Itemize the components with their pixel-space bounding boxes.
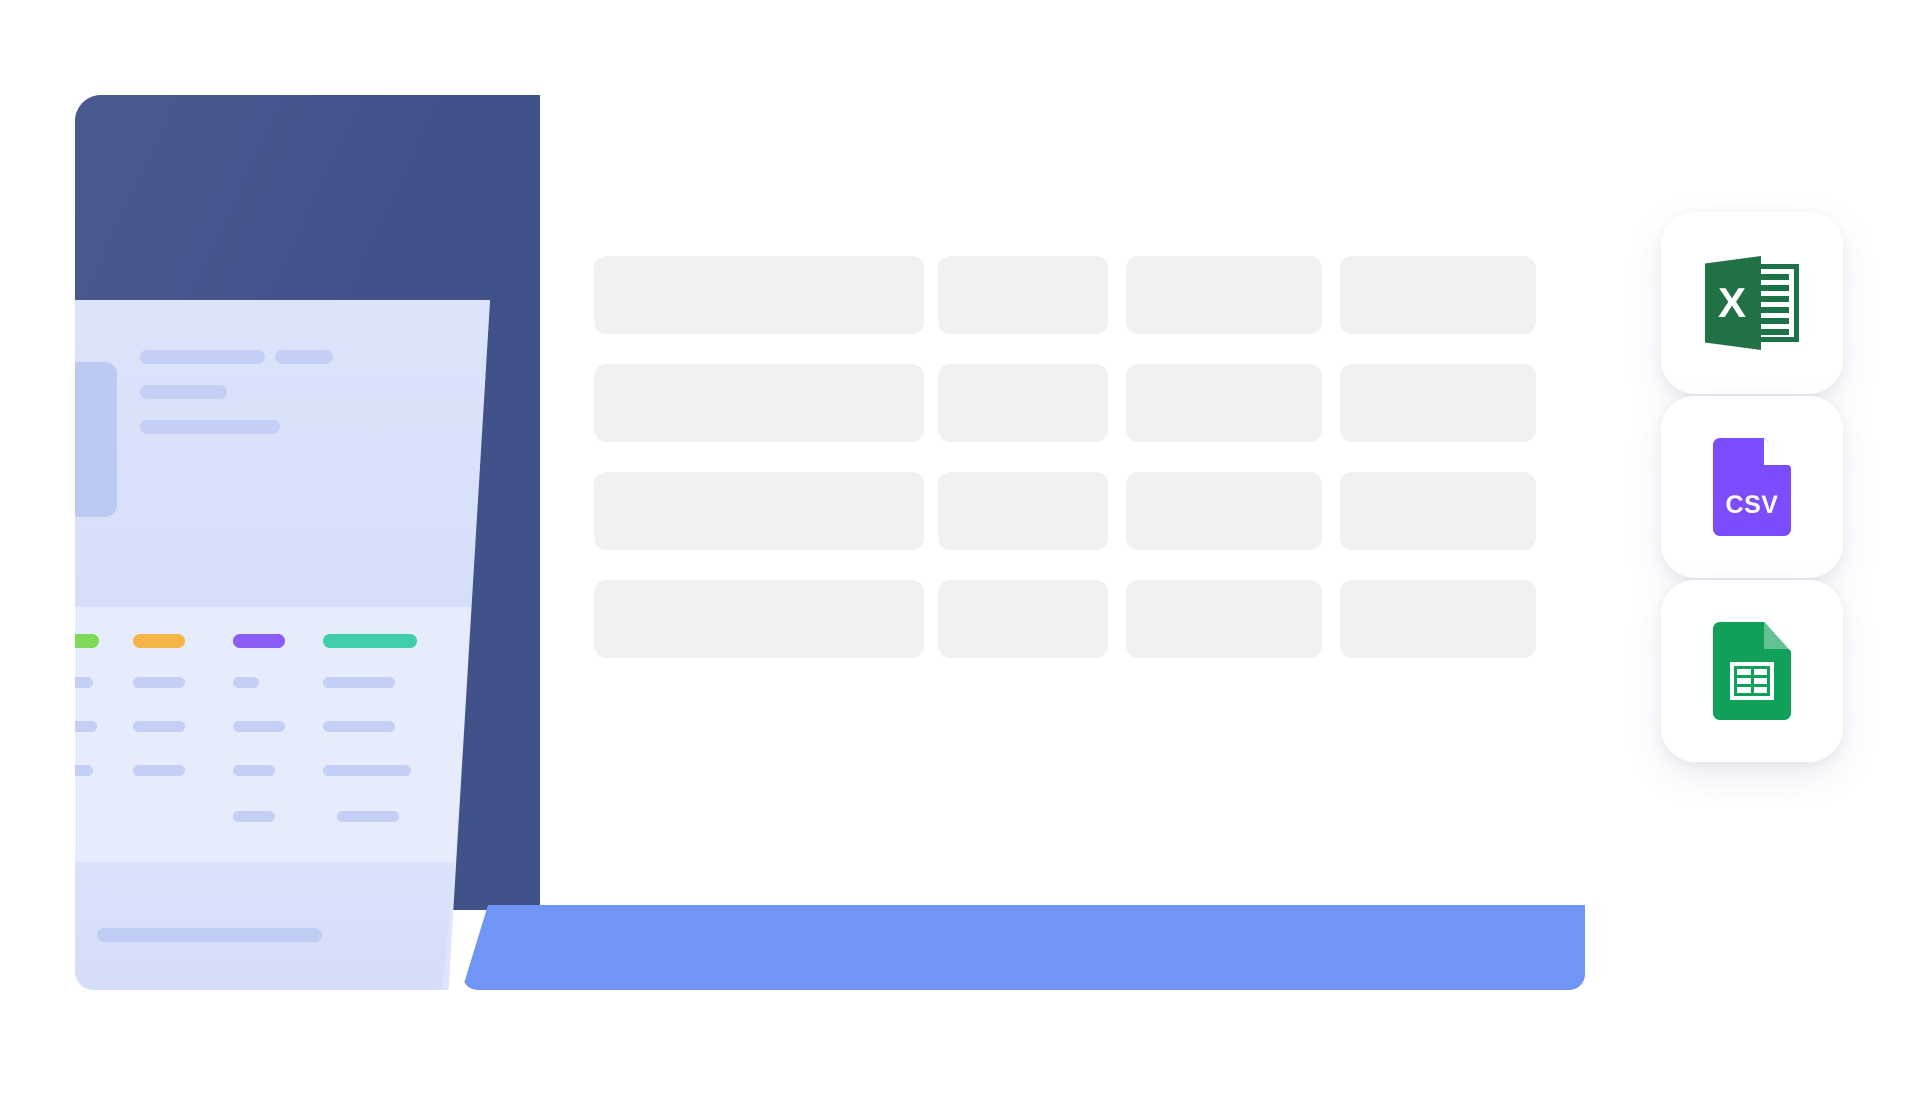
table-cell[interactable] [938,256,1108,334]
excel-x-label: X [1718,282,1746,324]
table-cell[interactable] [938,472,1108,550]
csv-file-icon: CSV [1713,438,1791,536]
document-cell-line [323,765,411,776]
document-text-line [140,350,265,364]
document-cell-line [323,721,395,732]
document-cell-line [133,765,185,776]
table-cell[interactable] [1126,364,1322,442]
export-card-google-sheets[interactable] [1661,580,1843,762]
document-cell-line [65,765,93,776]
document-footer-section [75,862,490,990]
document-column-accent-orange [133,634,185,648]
table-cell[interactable] [594,256,924,334]
table-cell[interactable] [938,580,1108,658]
gsheet-grid-glyph [1730,662,1774,700]
document-logo-block [65,362,117,517]
table-cell[interactable] [1340,364,1536,442]
document-cell-line [65,677,93,688]
document-table-section [75,607,490,862]
table-cell[interactable] [1126,472,1322,550]
google-sheets-icon [1713,622,1791,720]
table-cell[interactable] [1126,580,1322,658]
document-column-accent-purple [233,634,285,648]
document-footer-line [97,928,322,942]
document-cell-line [233,721,285,732]
document-cell-line [337,811,399,822]
document-text-line [140,385,227,399]
document-cell-line [323,677,395,688]
table-cell[interactable] [1126,256,1322,334]
document-cell-line [133,677,185,688]
document-cell-line [133,721,185,732]
table-cell[interactable] [594,580,924,658]
laptop-base-cap [1545,905,1585,990]
document-header-section [75,300,490,607]
illustration-stage: Product name Quantity Price Total [0,0,1920,1094]
table-cell[interactable] [1340,472,1536,550]
document-cell-line [233,811,275,822]
document-column-accent-teal [323,634,417,648]
excel-icon: X [1705,256,1799,350]
table-cell[interactable] [1340,580,1536,658]
document-cell-line [233,765,275,776]
csv-page-shape [1713,438,1791,536]
document-column-accent-green [65,634,99,648]
table-cell[interactable] [938,364,1108,442]
excel-x-panel: X [1705,256,1761,350]
laptop-base [462,905,1585,990]
export-card-excel[interactable]: X [1661,212,1843,394]
table-cell[interactable] [1340,256,1536,334]
table-cell[interactable] [594,472,924,550]
document-cell-line [65,721,97,732]
table-cell[interactable] [594,364,924,442]
document-text-line [275,350,333,364]
document-preview [75,300,490,990]
document-text-line [140,420,280,434]
document-cell-line [233,677,259,688]
csv-label: CSV [1713,491,1791,520]
export-card-csv[interactable]: CSV [1661,396,1843,578]
